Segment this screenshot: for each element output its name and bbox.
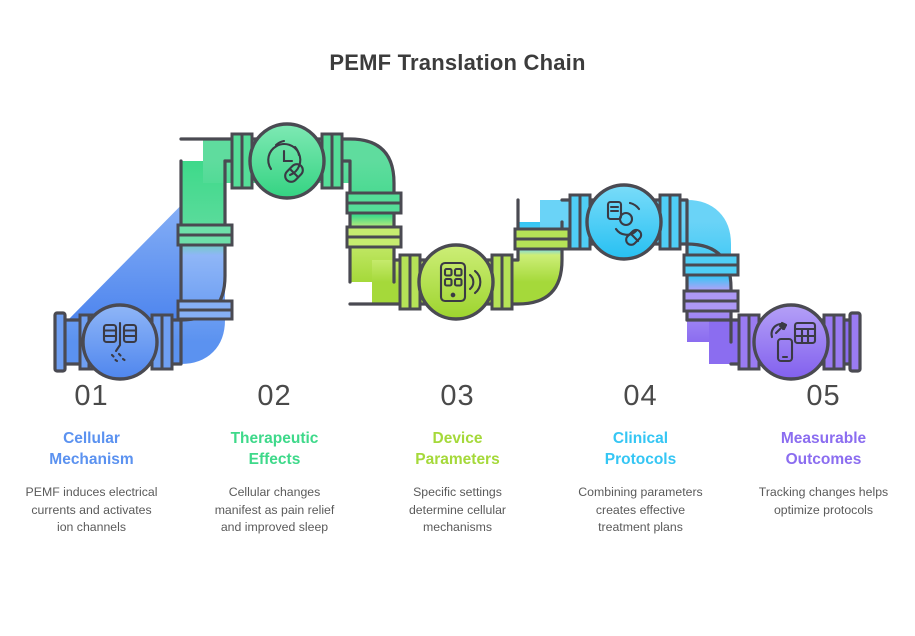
step-title-line2: Effects <box>249 451 301 468</box>
step-number: 02 <box>257 382 291 411</box>
page-title: PEMF Translation Chain <box>0 50 915 76</box>
pipe-end-cap-left <box>55 313 65 371</box>
step-title-line2: Outcomes <box>786 451 862 468</box>
step-description: Combining parameters creates effective t… <box>571 484 711 537</box>
step-title-line1: Device <box>433 430 483 447</box>
node-4-clinical-protocols[interactable] <box>587 185 661 259</box>
step-column-1: 01 Cellular Mechanism PEMF induces elect… <box>0 382 183 582</box>
step-column-3: 03 Device Parameters Specific settings d… <box>366 382 549 582</box>
step-description: Cellular changes manifest as pain relief… <box>205 484 345 537</box>
pipeline-diagram <box>0 105 915 390</box>
step-description: Tracking changes helps optimize protocol… <box>754 484 894 519</box>
step-column-2: 02 Therapeutic Effects Cellular changes … <box>183 382 366 582</box>
node-5-measurable-outcomes[interactable] <box>754 305 828 379</box>
step-title: Clinical Protocols <box>605 429 676 470</box>
node-1-cellular-mechanism[interactable] <box>83 305 157 379</box>
step-title-line1: Cellular <box>63 430 120 447</box>
step-title: Cellular Mechanism <box>49 429 133 470</box>
step-title-line2: Mechanism <box>49 451 133 468</box>
step-column-5: 05 Measurable Outcomes Tracking changes … <box>732 382 915 582</box>
pipe-end-cap-right <box>850 313 860 371</box>
step-description: PEMF induces electrical currents and act… <box>22 484 162 537</box>
step-title: Therapeutic Effects <box>231 429 319 470</box>
node-3-device-parameters[interactable] <box>419 245 493 319</box>
step-number: 01 <box>74 382 108 411</box>
step-column-4: 04 Clinical Protocols Combining paramete… <box>549 382 732 582</box>
step-title-line2: Protocols <box>605 451 676 468</box>
step-number: 04 <box>623 382 657 411</box>
step-number: 03 <box>440 382 474 411</box>
step-title-line2: Parameters <box>415 451 499 468</box>
step-title-line1: Measurable <box>781 430 866 447</box>
step-title: Measurable Outcomes <box>781 429 866 470</box>
step-title-line1: Therapeutic <box>231 430 319 447</box>
steps-columns: 01 Cellular Mechanism PEMF induces elect… <box>0 382 915 582</box>
step-number: 05 <box>806 382 840 411</box>
step-title-line1: Clinical <box>613 430 668 447</box>
step-description: Specific settings determine cellular mec… <box>388 484 528 537</box>
step-title: Device Parameters <box>415 429 499 470</box>
node-2-therapeutic-effects[interactable] <box>250 124 324 198</box>
